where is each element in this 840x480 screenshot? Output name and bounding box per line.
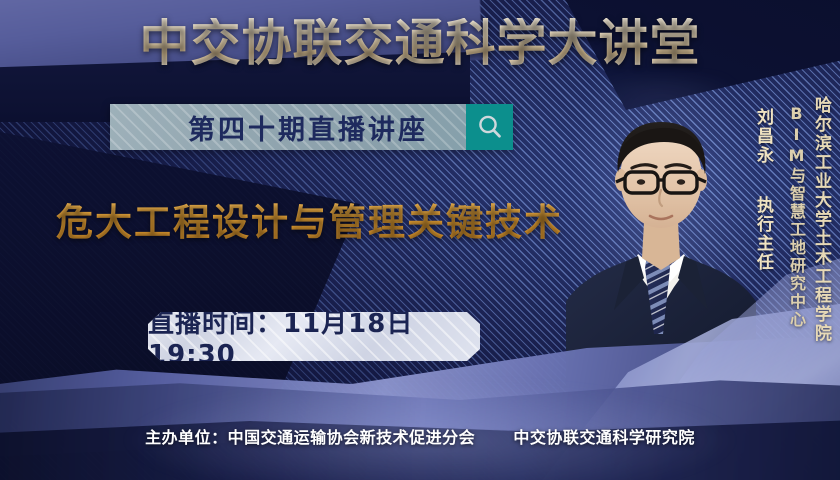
poster-canvas: 中交协联交通科学大讲堂 中交协联交通科学大讲堂 第四十期直播讲座 危大工程设计与…	[0, 0, 840, 480]
episode-label: 第四十期直播讲座	[148, 108, 428, 147]
episode-banner: 第四十期直播讲座	[110, 104, 513, 150]
search-button[interactable]	[466, 104, 513, 150]
page-title: 中交协联交通科学大讲堂	[0, 18, 840, 68]
speaker-name: 刘昌永	[751, 108, 776, 165]
speaker-role: 执行主任	[751, 196, 776, 272]
footer-organizer-primary: 主办单位：中国交通运输协会新技术促进分会	[145, 428, 475, 447]
broadcast-time-label: 直播时间：11月18日19:30	[148, 303, 480, 370]
speaker-portrait	[566, 72, 756, 417]
lecture-title: 危大工程设计与管理关键技术	[56, 192, 563, 246]
footer-organizers: 主办单位：中国交通运输协会新技术促进分会 中交协联交通科学研究院	[0, 424, 840, 448]
footer-organizer-secondary: 中交协联交通科学研究院	[513, 428, 695, 447]
speaker-affiliation-primary: 哈尔滨工业大学土木工程学院	[809, 96, 834, 343]
search-icon	[475, 112, 505, 142]
speaker-affiliation-secondary: BIM与智慧工地研究中心	[784, 104, 808, 329]
episode-banner-strip: 第四十期直播讲座	[110, 104, 466, 150]
broadcast-time-banner: 直播时间：11月18日19:30	[148, 312, 480, 361]
